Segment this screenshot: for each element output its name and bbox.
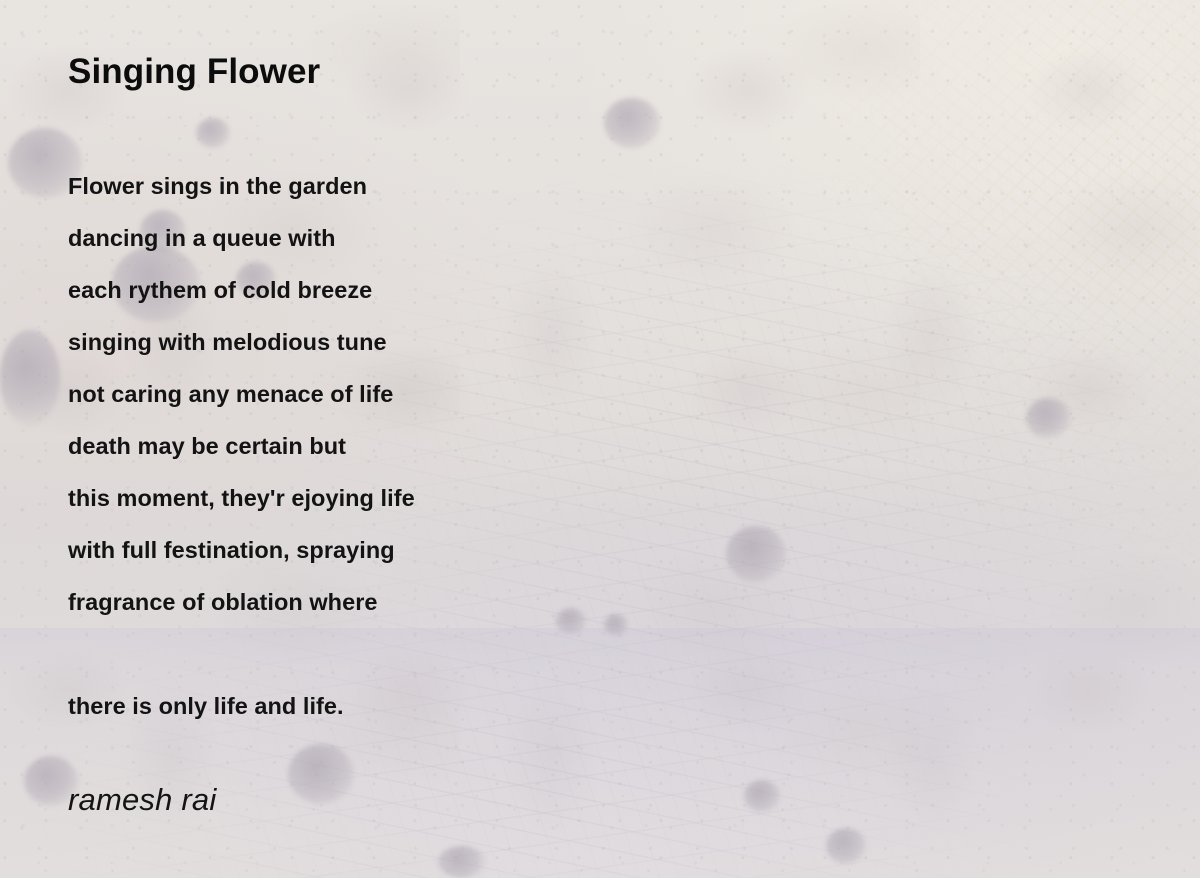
poem-line: this moment, they'r ejoying life: [68, 472, 415, 524]
ink-blot: [1026, 398, 1070, 438]
ink-blot: [744, 780, 780, 812]
poem-line: with full festination, spraying: [68, 524, 415, 576]
ink-blot: [604, 614, 628, 636]
poem-card: Singing Flower Flower sings in the garde…: [0, 0, 1200, 878]
poem-line: there is only life and life.: [68, 680, 415, 732]
ink-blot: [604, 98, 660, 148]
ink-blot: [196, 118, 230, 148]
ink-blot: [288, 744, 354, 804]
poem-line: each rythem of cold breeze: [68, 264, 415, 316]
ink-blot: [556, 608, 586, 634]
poem-line: not caring any menace of life: [68, 368, 415, 420]
poem-line: dancing in a queue with: [68, 212, 415, 264]
poem-line-blank: [68, 628, 415, 680]
poem-line: death may be certain but: [68, 420, 415, 472]
poem-line: Flower sings in the garden: [68, 160, 415, 212]
poem-body: Flower sings in the garden dancing in a …: [68, 160, 415, 732]
ink-blot: [726, 526, 786, 582]
poem-author: ramesh rai: [68, 782, 216, 818]
ink-blot: [826, 828, 866, 864]
poem-line: singing with melodious tune: [68, 316, 415, 368]
poem-line: fragrance of oblation where: [68, 576, 415, 628]
ink-blot: [0, 330, 60, 426]
page-title: Singing Flower: [68, 53, 320, 92]
ink-blot: [438, 846, 486, 878]
